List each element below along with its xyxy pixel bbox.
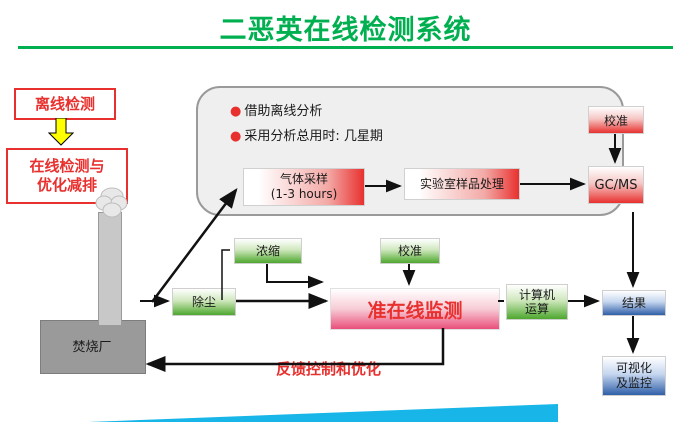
computer-calculation-box: 计算机 运算 bbox=[506, 284, 568, 320]
offline-detection-box: 离线检测 bbox=[14, 88, 116, 120]
chimney-stack-icon bbox=[98, 212, 122, 326]
online-box-line2: 优化减排 bbox=[37, 176, 97, 194]
diagram-canvas: 二恶英在线检测系统 离线检测 在线检测与 优化减排 ●借助离线分析 ●采用分析总… bbox=[0, 0, 691, 420]
gas-sampling-line2: (1-3 hours) bbox=[271, 187, 338, 201]
bottom-cyan-wedge bbox=[88, 404, 558, 422]
smoke-plume-icon bbox=[92, 186, 132, 220]
result-box: 结果 bbox=[602, 290, 666, 316]
lab-sample-processing-box: 实验室样品处理 bbox=[404, 168, 520, 200]
visual-line1: 可视化 bbox=[616, 361, 652, 375]
quasi-online-monitoring-box: 准在线监测 bbox=[330, 288, 500, 330]
computer-line2: 运算 bbox=[525, 302, 549, 316]
dedust-box: 除尘 bbox=[172, 288, 236, 316]
bullet-dot-icon: ● bbox=[230, 129, 241, 144]
gcms-box: GC/MS bbox=[588, 166, 644, 204]
online-box-line1: 在线检测与 bbox=[29, 157, 104, 175]
page-title: 二恶英在线检测系统 bbox=[0, 8, 691, 47]
gas-sampling-box: 气体采样 (1-3 hours) bbox=[243, 168, 365, 206]
incinerator-label: 焚烧厂 bbox=[40, 336, 144, 355]
computer-line1: 计算机 bbox=[519, 288, 555, 302]
feedback-control-label: 反馈控制和优化 bbox=[276, 358, 381, 379]
bullet-dot-icon: ● bbox=[230, 104, 241, 119]
gas-sampling-line1: 气体采样 bbox=[280, 172, 328, 186]
calibration-box-mid: 校准 bbox=[380, 238, 440, 264]
concentrate-box: 浓缩 bbox=[234, 238, 302, 264]
down-arrow-yellow-icon bbox=[48, 118, 74, 146]
visualization-monitoring-box: 可视化 及监控 bbox=[602, 356, 666, 396]
calibration-box-top: 校准 bbox=[588, 106, 644, 134]
visual-line2: 及监控 bbox=[616, 376, 652, 390]
panel-bullet-2: ●采用分析总用时: 几星期 bbox=[230, 125, 383, 144]
panel-bullet-1: ●借助离线分析 bbox=[230, 100, 322, 119]
title-divider bbox=[18, 46, 673, 49]
